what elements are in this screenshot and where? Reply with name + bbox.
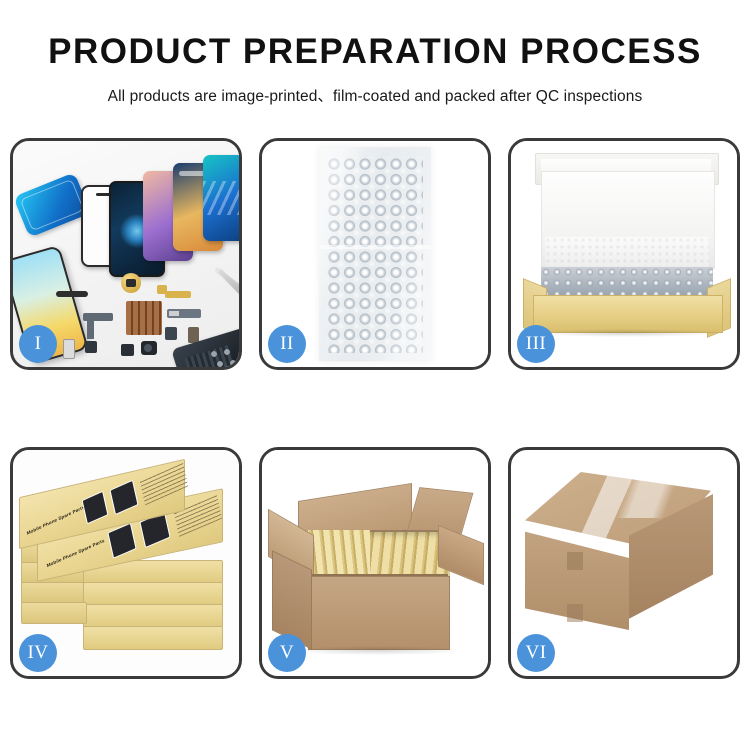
foam-padding <box>545 237 709 269</box>
retail-box-label-2: Mobile Phone Spare Parts <box>46 538 105 568</box>
small-component-3 <box>121 344 134 356</box>
mailer-front-panel <box>533 295 723 333</box>
screws-part <box>209 349 239 367</box>
retail-box-screen-2 <box>109 480 138 516</box>
carton-sheen <box>531 468 711 518</box>
process-step-4: Mobile Phone Spare Parts Mobile Phone Sp… <box>10 447 242 679</box>
flex-cable-part-2 <box>165 291 191 298</box>
carton-contents-boxes-left <box>308 530 370 578</box>
step-badge-2: II <box>268 325 306 363</box>
step-badge-5: V <box>268 634 306 672</box>
page-title: PRODUCT PREPARATION PROCESS <box>0 34 750 71</box>
camera-module-part <box>141 341 157 355</box>
bubble-wrap-sheet <box>319 147 431 361</box>
bubble-highlights <box>327 157 423 353</box>
step-badge-4: IV <box>19 634 57 672</box>
retail-box-front-3 <box>83 604 223 628</box>
retail-box-front-2 <box>83 582 223 606</box>
process-step-2: II <box>259 138 491 370</box>
carton-tab-upper <box>567 552 583 570</box>
phone-display-teal <box>203 155 239 241</box>
step-badge-1: I <box>19 325 57 363</box>
wrap-fold-line <box>319 245 431 249</box>
step-badge-6: VI <box>517 634 555 672</box>
process-step-3: III <box>508 138 740 370</box>
page-subtitle: All products are image-printed、film-coat… <box>0 84 750 106</box>
small-component-1 <box>165 327 177 340</box>
flex-cable-part-1 <box>83 313 113 321</box>
page-header: PRODUCT PREPARATION PROCESS All products… <box>0 0 750 106</box>
small-component-2 <box>85 341 97 353</box>
retail-box-front-4 <box>83 626 223 650</box>
blue-screen-protector <box>13 172 91 238</box>
screw-tray-part <box>126 301 162 335</box>
carton-shadow <box>292 646 462 655</box>
step-badge-3: III <box>517 325 555 363</box>
carton-tab-lower <box>567 604 583 622</box>
tweezers-tool-2 <box>218 269 239 303</box>
speaker-coil-part <box>121 273 141 293</box>
process-step-5: V <box>259 447 491 679</box>
carton-front-panel <box>308 576 450 650</box>
earpiece-mesh-part <box>56 291 88 297</box>
flex-cable-part-3 <box>167 309 201 318</box>
retail-box-speclines-1 <box>140 462 188 505</box>
retail-box-label-1: Mobile Phone Spare Parts <box>26 505 85 536</box>
process-step-6: VI <box>508 447 740 679</box>
retail-box-screen-3 <box>107 523 136 559</box>
retail-box-side-4 <box>21 602 87 624</box>
process-steps-grid: I II III <box>10 138 740 679</box>
mailer-shadow <box>537 329 717 337</box>
connector-part <box>63 339 75 359</box>
retail-box-screen-1 <box>82 491 109 525</box>
process-step-1: I <box>10 138 242 370</box>
